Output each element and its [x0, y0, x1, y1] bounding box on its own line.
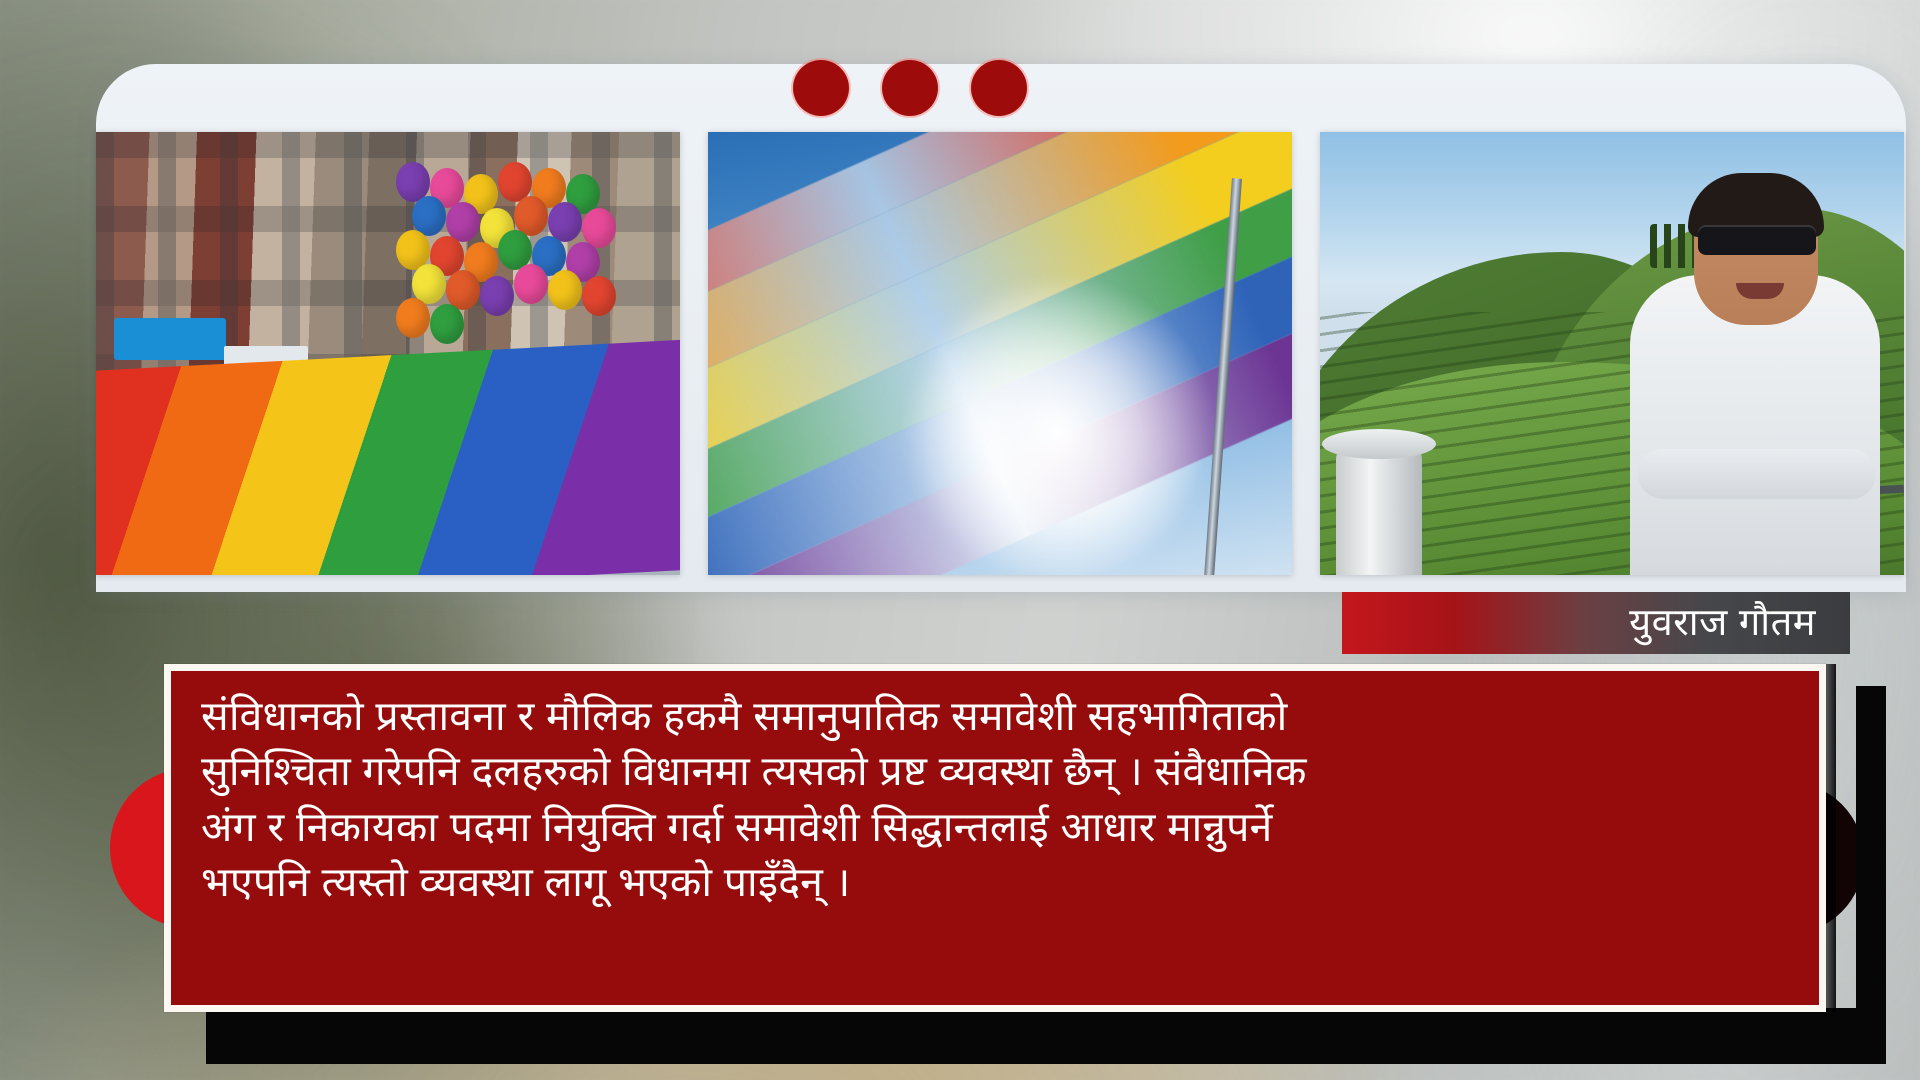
quote-box-inner: संविधानको प्रस्तावना र मौलिक हकमै समानुप… — [171, 671, 1819, 1005]
photo3-man-sunglasses-icon — [1698, 225, 1816, 255]
decorative-dots — [793, 60, 1027, 116]
photo-man-tea-hills — [1320, 132, 1904, 575]
quote-drop-shadow-right — [1856, 686, 1886, 1064]
quote-line: अंग र निकायका पदमा नियुक्ति गर्दा समावेश… — [201, 800, 1789, 855]
photo1-rainbow-banner — [96, 337, 680, 575]
photo1-balloons — [396, 162, 626, 332]
photo3-man-arms — [1638, 449, 1876, 499]
quote-box: संविधानको प्रस्तावना र मौलिक हकमै समानुप… — [164, 664, 1826, 1012]
dot-2-icon — [882, 60, 938, 116]
speaker-name-label: युवराज गौतम — [1629, 604, 1816, 642]
photo-strip — [96, 132, 1906, 584]
dot-3-icon — [971, 60, 1027, 116]
photo3-lamp-post — [1336, 445, 1422, 575]
quote-drop-shadow-bottom — [206, 1008, 1886, 1064]
quote-right-edge — [1826, 664, 1836, 1012]
speaker-name-banner: युवराज गौतम — [1342, 592, 1850, 654]
photo-pride-march — [96, 132, 680, 575]
dot-1-icon — [793, 60, 849, 116]
quote-line: भएपनि त्यस्तो व्यवस्था लागू भएको पाइँदैन… — [201, 855, 1789, 910]
quote-line: संविधानको प्रस्तावना र मौलिक हकमै समानुप… — [201, 689, 1789, 744]
quote-line: सुनिश्चिता गरेपनि दलहरुको विधानमा त्यसको… — [201, 744, 1789, 799]
photo-rainbow-flag — [708, 132, 1292, 575]
